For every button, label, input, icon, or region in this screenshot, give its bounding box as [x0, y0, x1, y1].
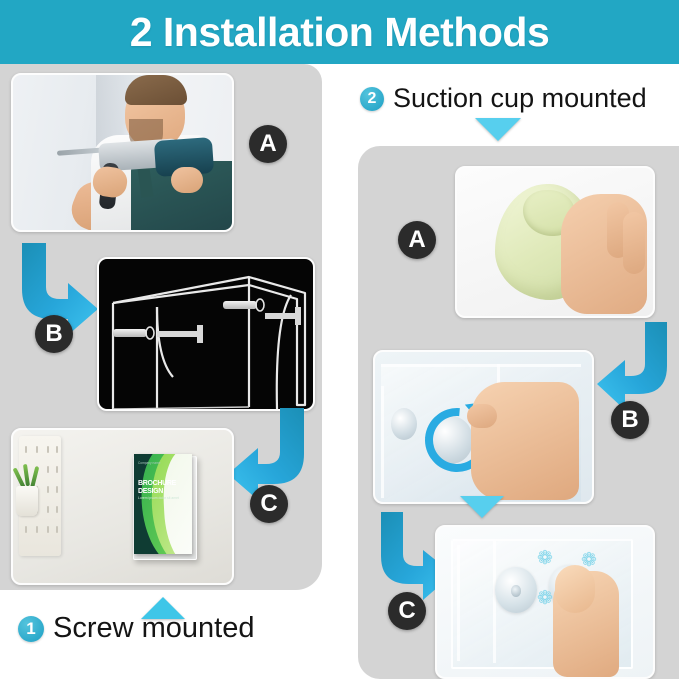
drilling-wall-photo	[11, 73, 234, 232]
step-badge-a-left: A	[249, 125, 287, 163]
arrow-a-to-b-right	[597, 322, 675, 414]
acrylic-edge	[381, 386, 384, 498]
acrylic-edge	[457, 545, 460, 661]
hand-installing-cup	[471, 382, 579, 500]
infographic-root: 2 Installation Methods A B	[0, 0, 679, 679]
wall-anchor-1	[113, 329, 147, 337]
plant-pot	[16, 486, 38, 516]
method-number-2: 2	[360, 87, 384, 111]
thumb	[467, 404, 497, 428]
step-badge-b-left: B	[35, 315, 73, 353]
finger	[623, 212, 645, 274]
screw-2	[265, 305, 311, 327]
brochure-title: BROCHURE DESIGN	[138, 480, 192, 496]
caption-suction-cup-mounted: 2 Suction cup mounted	[360, 83, 647, 114]
wall-anchor-diagram	[97, 257, 315, 411]
wall-anchor-2	[223, 301, 257, 309]
method-label-1: Screw mounted	[53, 612, 255, 645]
worker-hair	[125, 75, 187, 105]
caption-screw-mounted: 1 Screw mounted	[18, 612, 255, 645]
press-onto-glass-photo: ❁ ❁ ❁	[435, 525, 655, 679]
triangle-down-suction-title	[475, 118, 521, 141]
step-badge-c-left: C	[250, 485, 288, 523]
brochure-subtitle: Lorem ipsum dolor sit amet	[138, 496, 179, 501]
attach-suction-cup-photo	[373, 350, 594, 504]
step-badge-a-right: A	[398, 221, 436, 259]
suction-cup-left	[495, 567, 537, 613]
suction-cup-back	[391, 408, 417, 440]
brochure-top-label: Company name	[138, 461, 161, 465]
brochure-flyer: Company name BROCHURE DESIGN Lorem ipsum…	[134, 454, 192, 554]
fingertip	[555, 565, 595, 613]
clean-surface-photo	[455, 166, 655, 318]
right-hand	[171, 167, 203, 193]
step-badge-c-right: C	[388, 592, 426, 630]
step-badge-b-right: B	[611, 401, 649, 439]
method-number-1: 1	[18, 616, 44, 642]
header-banner: 2 Installation Methods	[0, 0, 679, 64]
method-label-2: Suction cup mounted	[393, 83, 647, 114]
screw-1	[157, 321, 215, 347]
mounted-brochure-holder-photo: Company name BROCHURE DESIGN Lorem ipsum…	[11, 428, 234, 585]
swirl-decor-icon: ❁	[537, 589, 553, 608]
washer-1	[145, 323, 155, 343]
swirl-decor-icon: ❁	[537, 549, 553, 568]
page-title: 2 Installation Methods	[130, 9, 550, 56]
washer-2	[255, 295, 265, 315]
triangle-down-step-c	[460, 496, 504, 518]
acrylic-edge	[493, 541, 496, 663]
